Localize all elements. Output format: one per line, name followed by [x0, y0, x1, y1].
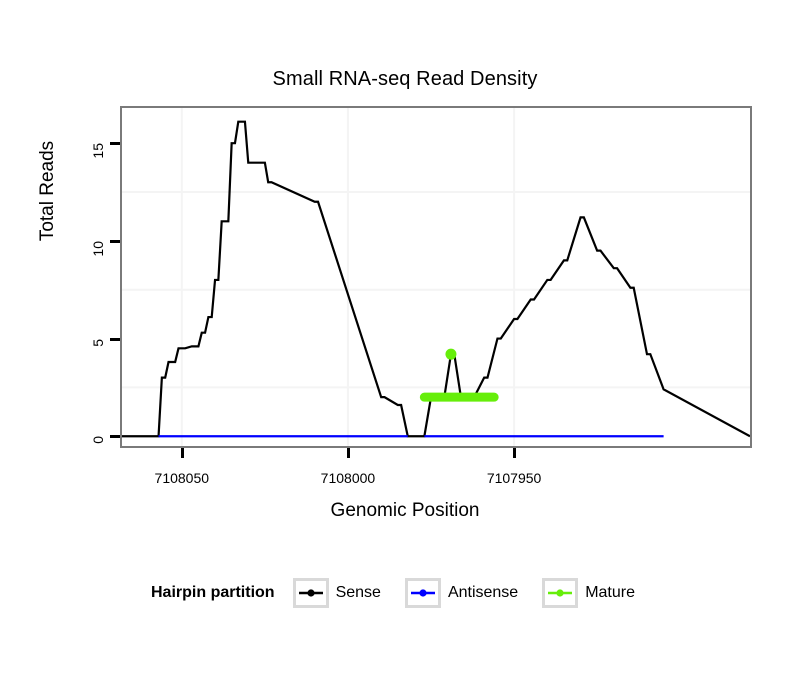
series-canvas	[122, 108, 750, 446]
x-tick-label: 7108000	[293, 470, 403, 486]
y-axis-label: Total Reads	[37, 81, 59, 301]
legend-label: Antisense	[448, 584, 518, 602]
x-tick-label: 7108050	[127, 470, 237, 486]
x-tick-mark	[513, 448, 516, 458]
legend-key-icon	[405, 578, 441, 608]
legend-item[interactable]: Mature	[542, 578, 653, 608]
y-tick-label: 15	[90, 143, 106, 183]
chart-page: Small RNA-seq Read Density Total Reads G…	[0, 0, 810, 690]
y-tick-label: 0	[90, 436, 106, 476]
x-tick-mark	[181, 448, 184, 458]
y-tick-mark	[110, 338, 120, 341]
legend-label: Sense	[336, 584, 381, 602]
x-axis-label: Genomic Position	[0, 500, 810, 522]
y-tick-mark	[110, 142, 120, 145]
plot-area	[122, 108, 750, 446]
legend: Hairpin partition SenseAntisenseMature	[0, 578, 810, 608]
x-tick-label: 7107950	[459, 470, 569, 486]
y-tick-mark	[110, 435, 120, 438]
y-tick-label: 10	[90, 241, 106, 281]
legend-label: Mature	[585, 584, 635, 602]
chart-title: Small RNA-seq Read Density	[0, 68, 810, 91]
legend-items: SenseAntisenseMature	[293, 578, 659, 608]
legend-item[interactable]: Antisense	[405, 578, 536, 608]
y-tick-mark	[110, 240, 120, 243]
legend-item[interactable]: Sense	[293, 578, 399, 608]
legend-key-icon	[542, 578, 578, 608]
legend-title: Hairpin partition	[151, 584, 275, 602]
sense-line	[122, 122, 750, 437]
x-tick-mark	[347, 448, 350, 458]
mature-point	[445, 349, 456, 360]
y-tick-label: 5	[90, 339, 106, 379]
legend-key-icon	[293, 578, 329, 608]
plot-panel	[120, 106, 752, 448]
